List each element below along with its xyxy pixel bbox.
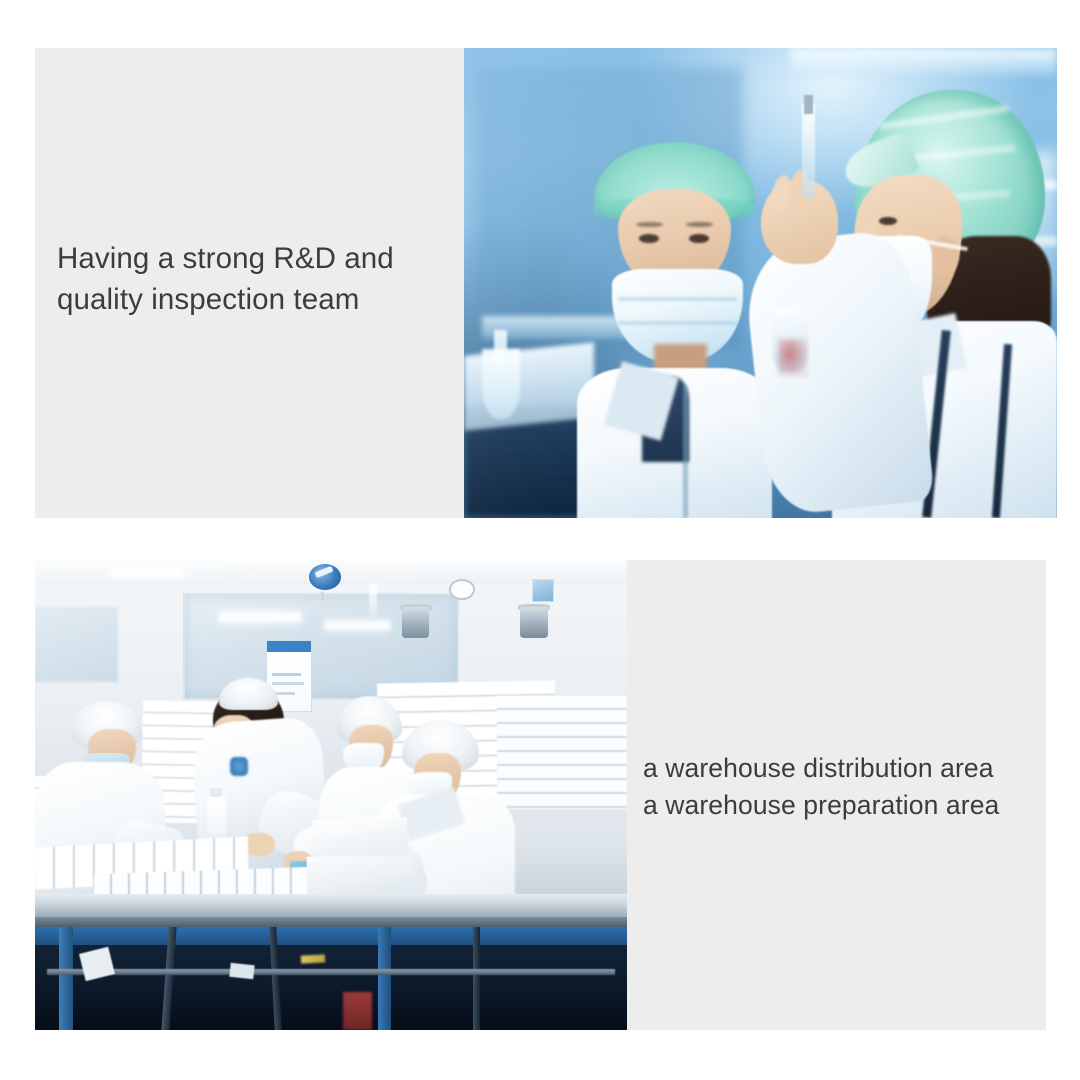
- lab-quality-inspection-photo: [464, 48, 1057, 518]
- photo-highlight-overlay: [464, 48, 1057, 518]
- page-root: Having a strong R&D and quality inspecti…: [0, 0, 1080, 1080]
- caption-text-warehouse-areas: a warehouse distribution area a warehous…: [643, 750, 1053, 824]
- warehouse-packing-photo: [35, 560, 627, 1030]
- content-block-warehouse-areas: a warehouse distribution area a warehous…: [35, 560, 1046, 1030]
- photo-highlight-overlay: [35, 560, 627, 1030]
- caption-panel-rnd-quality: Having a strong R&D and quality inspecti…: [35, 48, 465, 518]
- caption-text-rnd-quality: Having a strong R&D and quality inspecti…: [57, 238, 457, 320]
- caption-panel-warehouse-areas: a warehouse distribution area a warehous…: [627, 560, 1046, 1030]
- content-block-rnd-quality: Having a strong R&D and quality inspecti…: [35, 48, 1057, 518]
